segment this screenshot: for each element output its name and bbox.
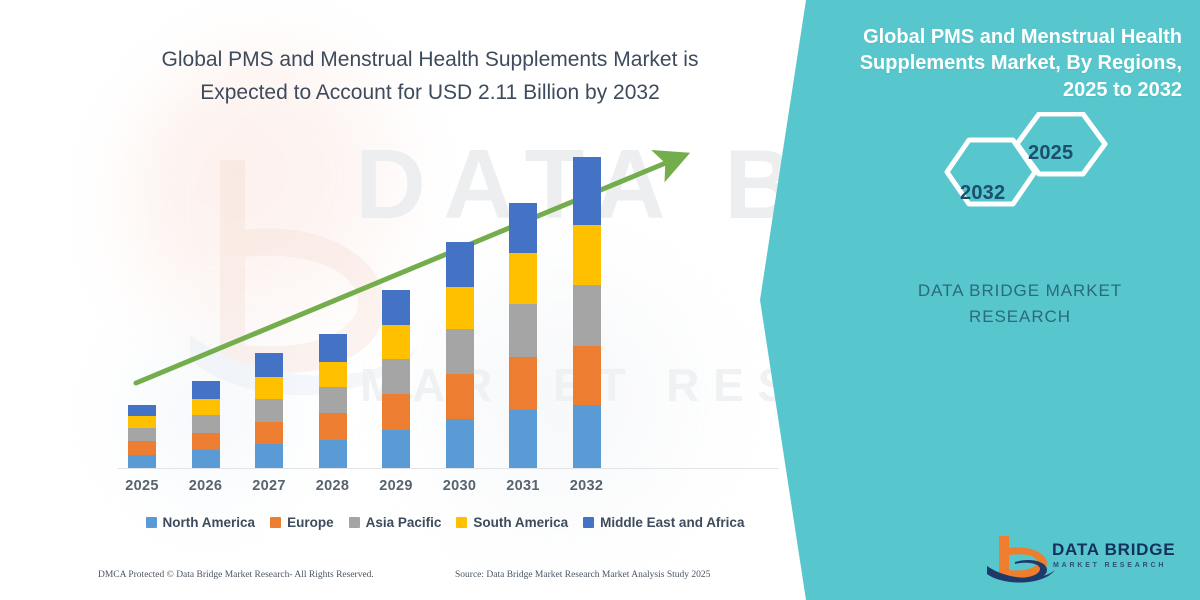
bar-2031 bbox=[509, 203, 537, 468]
bar-segment-2026-south-america bbox=[192, 399, 220, 415]
legend-label: South America bbox=[473, 515, 568, 530]
bar-2026 bbox=[192, 381, 220, 468]
x-axis-tick-2025: 2025 bbox=[107, 478, 177, 494]
bar-2025 bbox=[128, 405, 156, 468]
bar-segment-2027-north-america bbox=[255, 444, 283, 468]
bar-segment-2029-south-america bbox=[382, 325, 410, 359]
bar-segment-2025-south-america bbox=[128, 416, 156, 428]
bar-segment-2030-south-america bbox=[446, 287, 474, 330]
bar-segment-2032-asia-pacific bbox=[573, 285, 601, 345]
bar-segment-2026-north-america bbox=[192, 450, 220, 468]
bar-segment-2030-europe bbox=[446, 374, 474, 420]
data-bridge-logo-subtitle: MARKET RESEARCH bbox=[1053, 562, 1166, 569]
bar-segment-2032-north-america bbox=[573, 405, 601, 468]
bar-2028 bbox=[319, 334, 347, 468]
bar-segment-2028-middle-east-and-africa bbox=[319, 334, 347, 362]
panel-brand-text: DATA BRIDGE MARKET RESEARCH bbox=[860, 278, 1180, 331]
bar-2029 bbox=[382, 290, 410, 468]
bar-segment-2029-asia-pacific bbox=[382, 359, 410, 394]
panel-brand-line2: RESEARCH bbox=[860, 304, 1180, 330]
bar-segment-2030-middle-east-and-africa bbox=[446, 242, 474, 286]
bar-segment-2030-asia-pacific bbox=[446, 329, 474, 373]
hexagon-shapes-icon bbox=[925, 112, 1115, 222]
legend-swatch-icon bbox=[146, 517, 157, 528]
legend-label: Europe bbox=[287, 515, 334, 530]
bar-segment-2032-middle-east-and-africa bbox=[573, 157, 601, 225]
x-axis-tick-2032: 2032 bbox=[552, 478, 622, 494]
legend-label: Asia Pacific bbox=[366, 515, 442, 530]
bar-2027 bbox=[255, 353, 283, 468]
legend-swatch-icon bbox=[583, 517, 594, 528]
bar-segment-2026-middle-east-and-africa bbox=[192, 381, 220, 399]
legend-label: North America bbox=[163, 515, 256, 530]
bar-segment-2029-europe bbox=[382, 394, 410, 429]
legend-item-europe[interactable]: Europe bbox=[270, 515, 334, 530]
x-axis-tick-2027: 2027 bbox=[234, 478, 304, 494]
bar-segment-2030-north-america bbox=[446, 419, 474, 468]
legend-item-south-america[interactable]: South America bbox=[456, 515, 568, 530]
bar-segment-2031-asia-pacific bbox=[509, 304, 537, 357]
bar-segment-2026-asia-pacific bbox=[192, 415, 220, 433]
bar-segment-2028-asia-pacific bbox=[319, 387, 347, 414]
bar-segment-2027-south-america bbox=[255, 377, 283, 399]
hexagon-label-2032: 2032 bbox=[960, 182, 1005, 205]
bar-segment-2031-europe bbox=[509, 357, 537, 410]
legend-swatch-icon bbox=[270, 517, 281, 528]
legend-item-asia-pacific[interactable]: Asia Pacific bbox=[349, 515, 442, 530]
bar-segment-2032-europe bbox=[573, 346, 601, 405]
footer-copyright: DMCA Protected © Data Bridge Market Rese… bbox=[98, 570, 374, 580]
chart-plot-area: 20252026202720282029203020312032 bbox=[0, 0, 800, 600]
bar-segment-2027-asia-pacific bbox=[255, 399, 283, 423]
bar-segment-2029-middle-east-and-africa bbox=[382, 290, 410, 325]
data-bridge-logo-name: DATA BRIDGE bbox=[1052, 540, 1175, 560]
hexagon-group: 2032 2025 bbox=[925, 112, 1115, 222]
bar-segment-2025-north-america bbox=[128, 455, 156, 468]
bar-segment-2028-north-america bbox=[319, 440, 347, 468]
x-axis-tick-2026: 2026 bbox=[171, 478, 241, 494]
legend-swatch-icon bbox=[349, 517, 360, 528]
x-axis-tick-2030: 2030 bbox=[425, 478, 495, 494]
bar-segment-2025-middle-east-and-africa bbox=[128, 405, 156, 417]
panel-brand-line1: DATA BRIDGE MARKET bbox=[860, 278, 1180, 304]
bar-segment-2025-europe bbox=[128, 441, 156, 454]
bar-segment-2031-middle-east-and-africa bbox=[509, 203, 537, 253]
bar-2032 bbox=[573, 157, 601, 468]
x-axis-tick-2029: 2029 bbox=[361, 478, 431, 494]
panel-heading: Global PMS and Menstrual Health Suppleme… bbox=[842, 24, 1182, 103]
bar-segment-2026-europe bbox=[192, 433, 220, 451]
infographic-canvas: DATA BRIDGE MARKET RESEARCH Global PMS a… bbox=[0, 0, 1200, 600]
legend-label: Middle East and Africa bbox=[600, 515, 744, 530]
legend-item-middle-east-and-africa[interactable]: Middle East and Africa bbox=[583, 515, 744, 530]
legend-item-north-america[interactable]: North America bbox=[146, 515, 256, 530]
footer-source: Source: Data Bridge Market Research Mark… bbox=[455, 570, 710, 580]
bar-segment-2025-asia-pacific bbox=[128, 428, 156, 441]
bar-segment-2032-south-america bbox=[573, 225, 601, 285]
hexagon-label-2025: 2025 bbox=[1028, 142, 1073, 165]
bar-segment-2027-europe bbox=[255, 422, 283, 444]
bar-segment-2029-north-america bbox=[382, 430, 410, 468]
x-axis-tick-2028: 2028 bbox=[298, 478, 368, 494]
bar-segment-2027-middle-east-and-africa bbox=[255, 353, 283, 377]
bar-2030 bbox=[446, 242, 474, 468]
legend-swatch-icon bbox=[456, 517, 467, 528]
bar-segment-2031-south-america bbox=[509, 253, 537, 305]
x-axis-line bbox=[118, 468, 778, 469]
bar-segment-2031-north-america bbox=[509, 410, 537, 467]
bar-segment-2028-south-america bbox=[319, 362, 347, 387]
x-axis-tick-2031: 2031 bbox=[488, 478, 558, 494]
bar-segment-2028-europe bbox=[319, 413, 347, 440]
chart-legend: North AmericaEuropeAsia PacificSouth Ame… bbox=[110, 515, 780, 530]
